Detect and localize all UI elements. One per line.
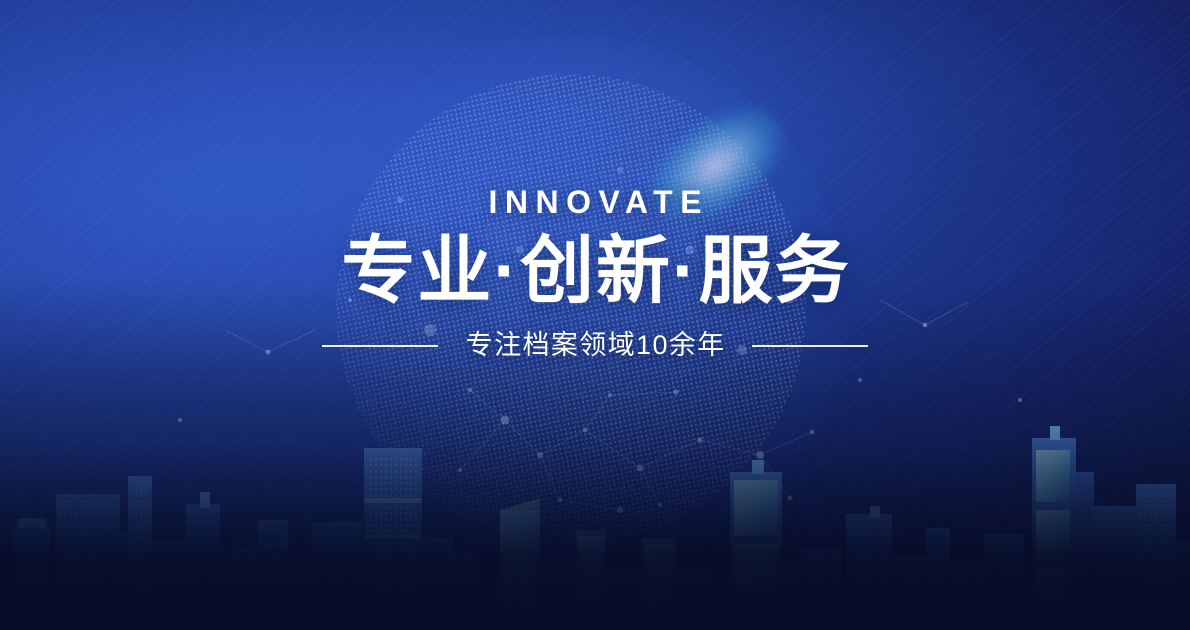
right-rule: [752, 345, 868, 347]
eyebrow-text: INNOVATE: [0, 186, 1190, 218]
subtitle-row: 专注档案领域10余年: [0, 332, 1190, 359]
hero-banner: INNOVATE 专业·创新·服务 专注档案领域10余年: [0, 0, 1190, 630]
page-title: 专业·创新·服务: [0, 232, 1190, 310]
hero-copy: INNOVATE 专业·创新·服务 专注档案领域10余年: [0, 186, 1190, 359]
subtitle-text: 专注档案领域10余年: [464, 332, 725, 359]
left-rule: [322, 345, 438, 347]
